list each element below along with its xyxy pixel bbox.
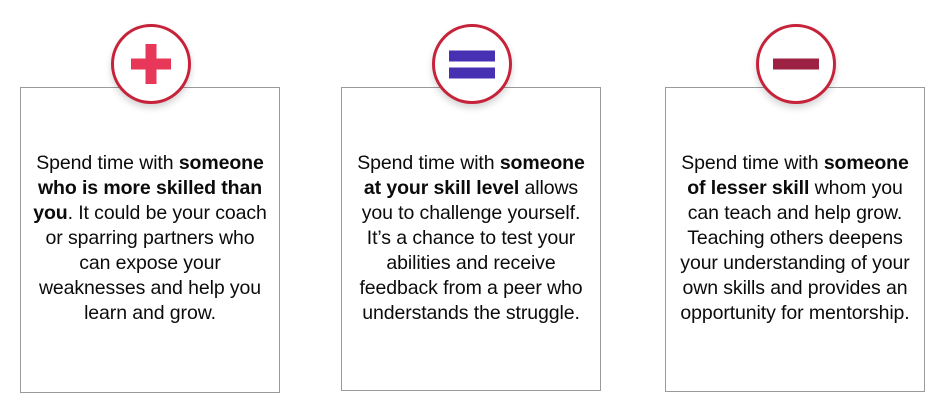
text-run-plain: Spend time with (681, 152, 824, 174)
equals-icon-badge (432, 24, 512, 104)
minus-icon (772, 56, 820, 72)
card-panel: Spend time with someone of lesser skill … (665, 87, 925, 392)
card-body-text: Spend time with someone at your skill le… (343, 151, 599, 326)
card-row: Spend time with someone who is more skil… (0, 0, 946, 410)
equals-icon (448, 46, 496, 82)
card-equal-skill: Spend time with someone at your skill le… (341, 0, 603, 410)
minus-icon-badge (756, 24, 836, 104)
card-panel: Spend time with someone at your skill le… (341, 87, 601, 391)
card-body-text: Spend time with someone who is more skil… (22, 151, 278, 326)
text-run-plain: Spend time with (36, 152, 179, 174)
card-lesser-skill: Spend time with someone of lesser skill … (665, 0, 927, 410)
text-run-plain: . It could be your coach or sparring par… (39, 202, 267, 324)
card-more-skilled: Spend time with someone who is more skil… (20, 0, 282, 410)
plus-icon-badge (111, 24, 191, 104)
text-run-plain: Spend time with (357, 152, 500, 174)
card-body-text: Spend time with someone of lesser skill … (667, 151, 923, 326)
plus-icon (127, 40, 175, 88)
card-panel: Spend time with someone who is more skil… (20, 87, 280, 393)
